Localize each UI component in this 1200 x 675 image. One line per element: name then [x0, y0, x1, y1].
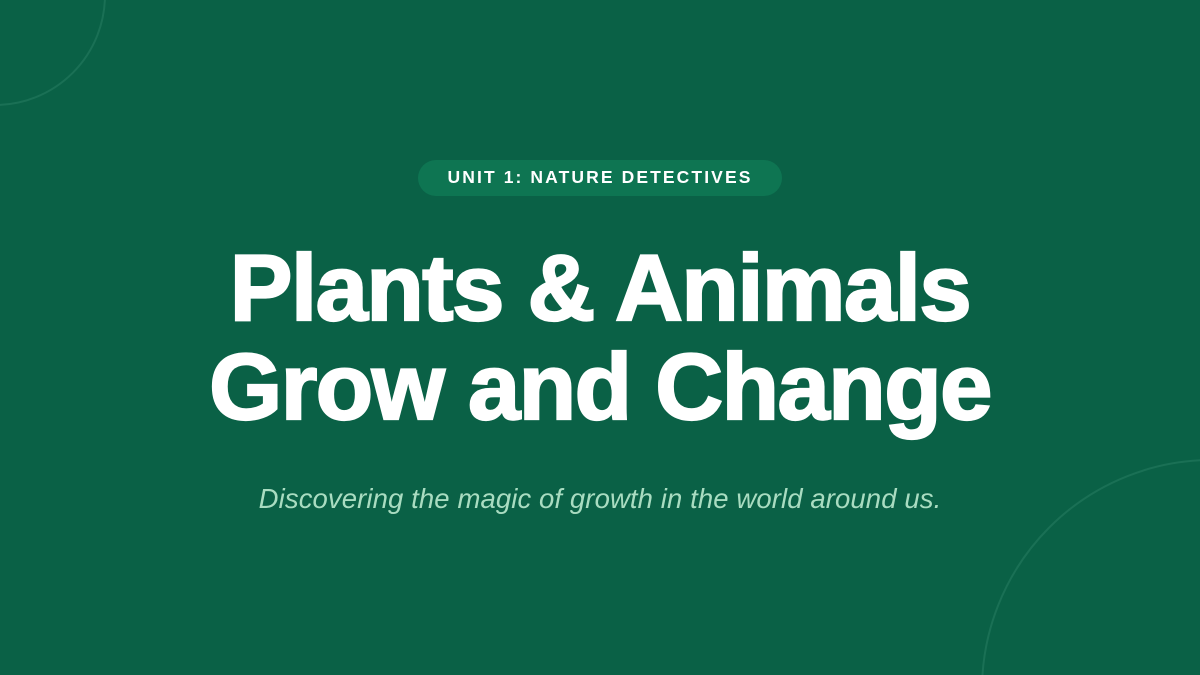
page-subtitle: Discovering the magic of growth in the w… [259, 482, 942, 515]
page-title: Plants & Animals Grow and Change [209, 240, 991, 436]
page-title-line-2: Grow and Change [209, 339, 991, 436]
title-slide: UNIT 1: NATURE DETECTIVES Plants & Anima… [0, 0, 1200, 675]
unit-badge: UNIT 1: NATURE DETECTIVES [418, 160, 783, 197]
page-title-line-1: Plants & Animals [209, 240, 991, 337]
slide-content: UNIT 1: NATURE DETECTIVES Plants & Anima… [0, 0, 1200, 675]
